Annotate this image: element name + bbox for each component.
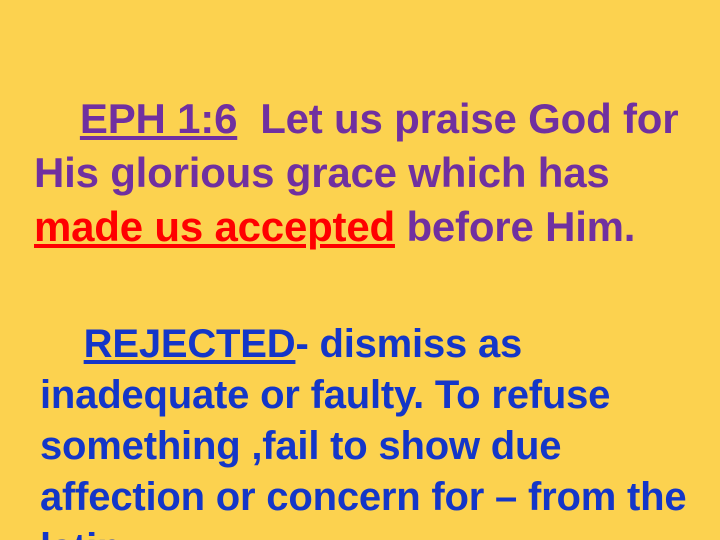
scripture-reference-gap (237, 95, 260, 142)
definition-term: REJECTED (84, 322, 296, 366)
definition-text-block: REJECTED- dismiss as inadequate or fault… (40, 268, 700, 540)
scripture-body-after: before Him. (395, 203, 635, 250)
slide-canvas: EPH 1:6 Let us praise God for His glorio… (0, 0, 720, 540)
scripture-highlight-phrase: made us accepted (34, 203, 395, 250)
scripture-reference: EPH 1:6 (80, 95, 237, 142)
